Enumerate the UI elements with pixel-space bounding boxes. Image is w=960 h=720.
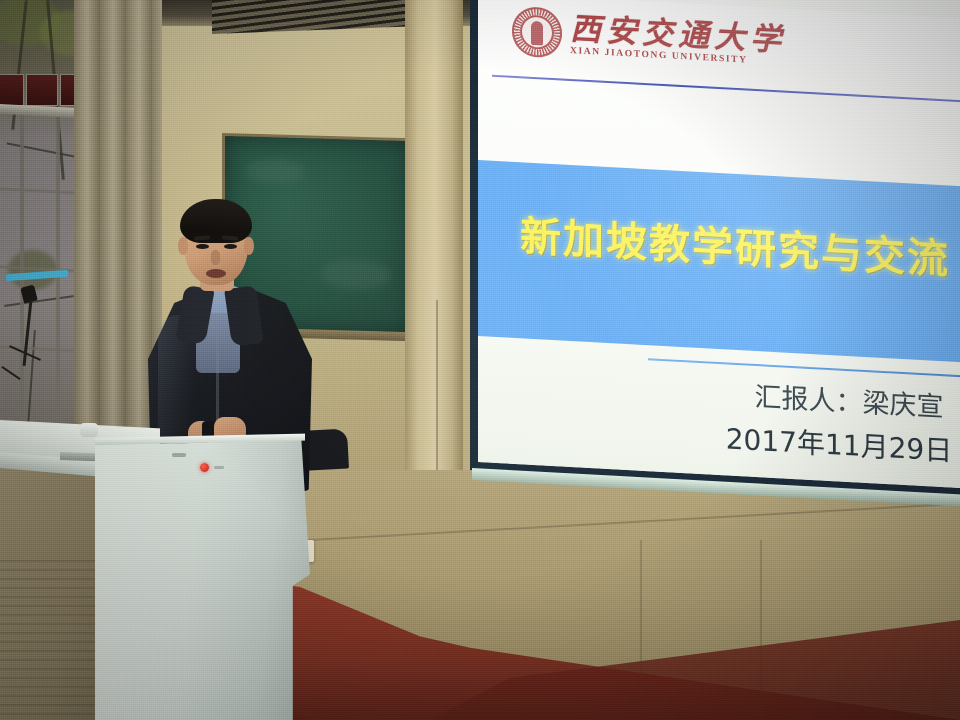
xian-jiaotong-university-seal-icon: [512, 6, 562, 59]
mouth: [206, 269, 226, 278]
lectern-label-mark: [172, 453, 186, 457]
eye-left: [196, 244, 209, 249]
chalk-smudge: [321, 259, 391, 291]
screen-surface: 西安交通大学 XIAN JIAOTONG UNIVERSITY 新加坡教学研究与…: [478, 0, 960, 492]
desk-knob: [80, 423, 98, 437]
transom-panel: [26, 74, 58, 106]
chalk-smudge: [245, 159, 305, 185]
lecture-hall-photo: 西安交通大学 XIAN JIAOTONG UNIVERSITY 新加坡教学研究与…: [0, 0, 960, 720]
presenter-hair: [180, 199, 252, 243]
desk-panel-texture: [0, 560, 96, 720]
lectern-power-indicator: [200, 463, 209, 472]
nose: [211, 250, 220, 265]
speaker-lectern: [95, 440, 310, 720]
ear-right: [244, 237, 254, 255]
lectern-label-mark: [214, 466, 224, 469]
ear-left: [178, 237, 188, 255]
projection-screen[interactable]: 西安交通大学 XIAN JIAOTONG UNIVERSITY 新加坡教学研究与…: [470, 0, 960, 520]
eye-right: [224, 244, 237, 249]
seal-inner-glyph: [531, 21, 543, 46]
transom-panel: [0, 74, 24, 106]
presentation-slide: 西安交通大学 XIAN JIAOTONG UNIVERSITY 新加坡教学研究与…: [478, 0, 960, 492]
